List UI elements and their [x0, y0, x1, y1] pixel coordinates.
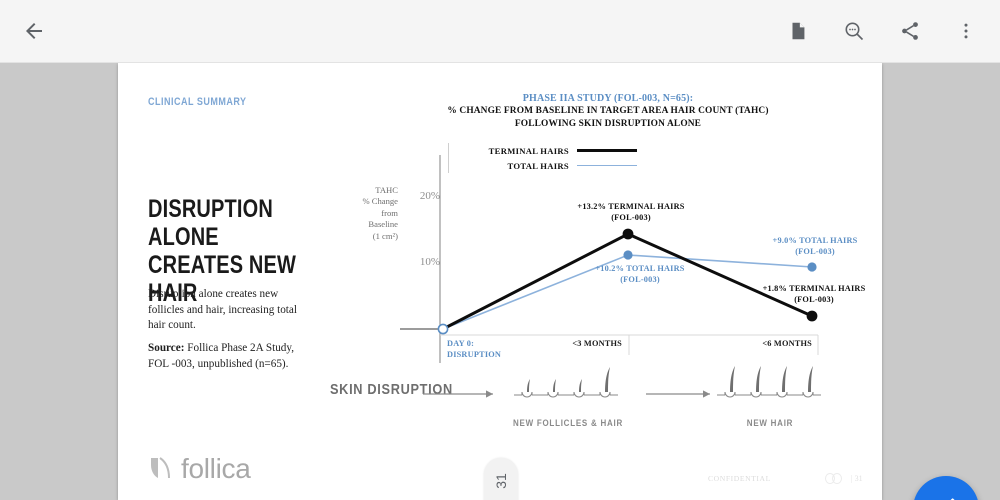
chart-y-axis-label: TAHC % Change from Baseline (1 cm²): [340, 185, 398, 242]
annotation-terminal-peak-sub: (FOL-003): [611, 213, 651, 222]
annotation-terminal-end-sub: (FOL-003): [794, 295, 834, 304]
legend-item-terminal: TERMINAL HAIRS: [449, 143, 648, 158]
y-axis-label-line-0: TAHC: [340, 185, 398, 196]
x-label-3months: <3 MONTHS: [516, 339, 622, 350]
annotation-total-end: +9.0% TOTAL HAIRS (FOL-003): [750, 235, 880, 257]
y-tick-20: 20%: [400, 190, 440, 202]
annotation-total-end-sub: (FOL-003): [795, 247, 835, 256]
arrow-2-icon: [646, 390, 710, 397]
follicle-hairs-1-icon: [527, 367, 610, 392]
app-toolbar: [0, 0, 1000, 63]
search-text-button[interactable]: [832, 9, 876, 53]
more-options-button[interactable]: [944, 9, 988, 53]
confidential-label: CONFIDENTIAL: [708, 474, 771, 483]
annotation-total-end-text: +9.0% TOTAL HAIRS: [773, 236, 858, 245]
x-label-day0-line1: DAY 0:: [447, 339, 474, 348]
legend-label-total: TOTAL HAIRS: [449, 161, 577, 171]
annotation-total-peak-text: +10.2% TOTAL HAIRS: [595, 264, 684, 273]
back-button[interactable]: [12, 9, 56, 53]
share-button[interactable]: [888, 9, 932, 53]
slide-source: Source: Follica Phase 2A Study, FOL -003…: [148, 341, 316, 372]
annotation-terminal-end-text: +1.8% TERMINAL HAIRS: [763, 284, 866, 293]
process-step1-caption: NEW FOLLICLES & HAIR: [513, 417, 624, 428]
footer-mark-icon: [823, 473, 845, 484]
x-label-day0: DAY 0: DISRUPTION: [447, 339, 501, 360]
legend-label-terminal: TERMINAL HAIRS: [449, 146, 577, 156]
follicle-hairs-2-icon: [730, 366, 813, 392]
chart-title: PHASE IIA STUDY (FOL-003, N=65): % CHANG…: [358, 93, 858, 130]
chart-title-line2: % CHANGE FROM BASELINE IN TARGET AREA HA…: [358, 105, 858, 117]
page-number-badge: 31: [484, 458, 518, 500]
chart-title-line1: PHASE IIA STUDY (FOL-003, N=65):: [358, 93, 858, 105]
y-axis-label-line-3: Baseline: [340, 219, 398, 230]
page-view-button[interactable]: [776, 9, 820, 53]
follica-logo: follica: [148, 453, 251, 485]
slide-body-copy: Disruption alone creates new follicles a…: [148, 287, 308, 334]
y-axis-label-line-4: (1 cm²): [340, 231, 398, 242]
process-step2-caption: NEW HAIR: [726, 417, 814, 428]
follicle-group-1-icon: [514, 392, 618, 397]
share-icon: [899, 20, 921, 42]
y-axis-label-line-1: % Change: [340, 196, 398, 207]
page-view-icon: [787, 20, 809, 42]
document-viewer[interactable]: CLINICAL SUMMARY DISRUPTION ALONE CREATE…: [0, 63, 1000, 500]
annotation-total-peak-sub: (FOL-003): [620, 275, 660, 284]
chart-legend: TERMINAL HAIRS TOTAL HAIRS: [448, 143, 648, 173]
footer-page-text: | 31: [851, 474, 863, 483]
slide-eyebrow: CLINICAL SUMMARY: [148, 96, 247, 108]
legend-swatch-total: [577, 165, 637, 166]
footer-page-number: | 31: [823, 473, 863, 484]
source-label: Source:: [148, 342, 184, 354]
process-title: SKIN DISRUPTION: [330, 381, 453, 398]
y-tick-10: 10%: [400, 256, 440, 268]
follica-logo-text: follica: [181, 453, 251, 485]
more-options-icon: [956, 21, 976, 41]
search-text-icon: [842, 19, 866, 43]
edit-fab-button[interactable]: [913, 476, 979, 500]
legend-item-total: TOTAL HAIRS: [449, 158, 648, 173]
chart-title-line3: FOLLOWING SKIN DISRUPTION ALONE: [358, 118, 858, 130]
x-label-day0-line2: DISRUPTION: [447, 350, 501, 359]
legend-swatch-terminal: [577, 149, 637, 152]
page-number-text: 31: [493, 473, 509, 489]
slide-page: CLINICAL SUMMARY DISRUPTION ALONE CREATE…: [118, 63, 882, 500]
arrow-back-icon: [22, 19, 46, 43]
x-label-6months: <6 MONTHS: [706, 339, 812, 350]
follica-mark-icon: [148, 456, 173, 483]
pencil-icon: [932, 495, 960, 500]
y-axis-label-line-2: from: [340, 208, 398, 219]
follicle-group-2-icon: [717, 392, 821, 397]
annotation-terminal-end: +1.8% TERMINAL HAIRS (FOL-003): [744, 283, 884, 305]
annotation-total-peak: +10.2% TOTAL HAIRS (FOL-003): [570, 263, 710, 285]
annotation-terminal-peak-text: +13.2% TERMINAL HAIRS: [577, 202, 684, 211]
annotation-terminal-peak: +13.2% TERMINAL HAIRS (FOL-003): [556, 201, 706, 223]
